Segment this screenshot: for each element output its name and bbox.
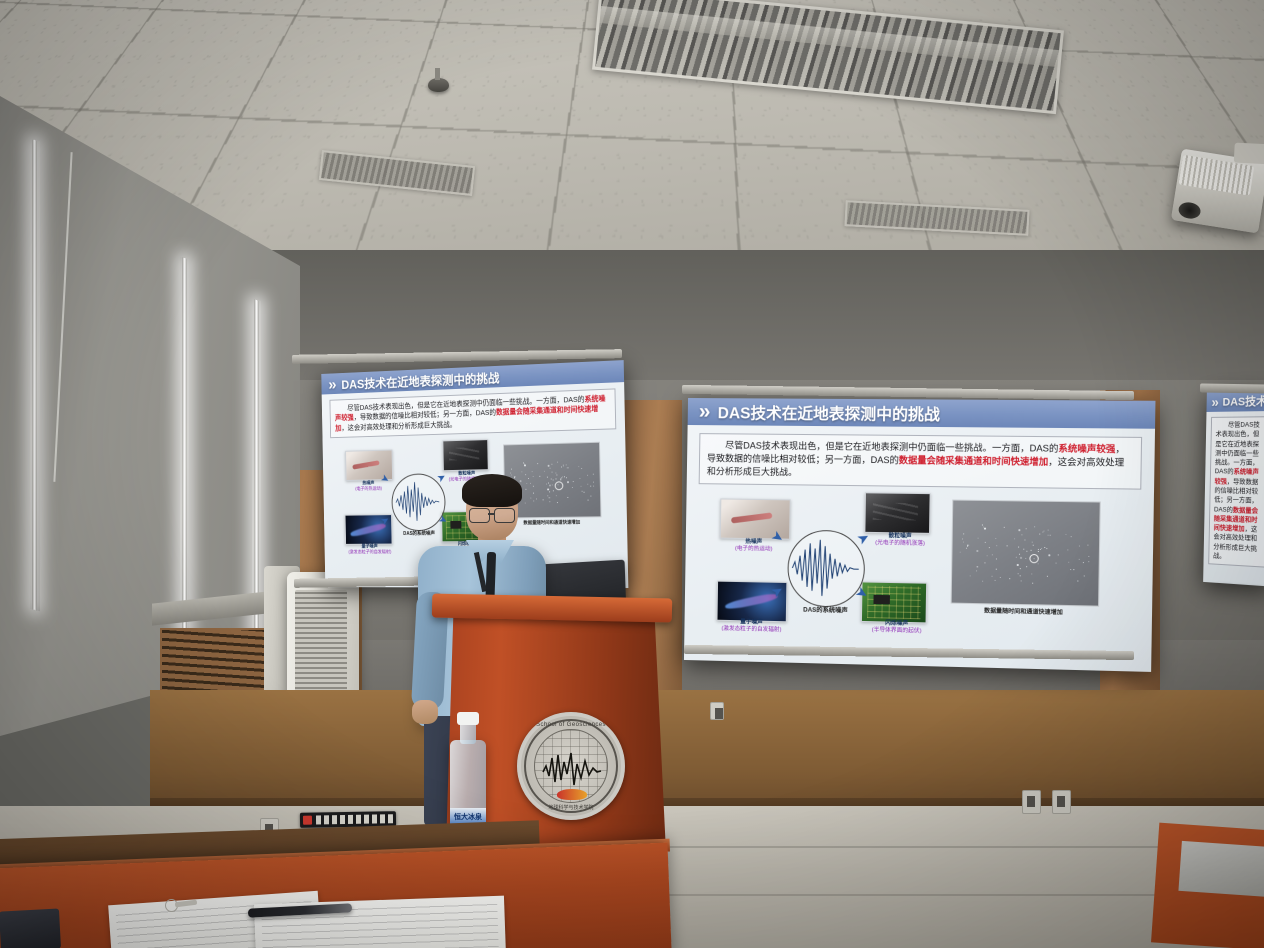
data-point	[566, 464, 567, 465]
data-point	[549, 492, 550, 493]
data-point	[566, 477, 567, 478]
data-point	[968, 545, 969, 546]
highlighted-text: 系统噪声较强	[1058, 443, 1115, 454]
data-point	[553, 490, 554, 491]
data-point	[962, 538, 963, 539]
chevron-double-right-icon: »	[1211, 395, 1218, 409]
data-point	[1047, 576, 1048, 577]
data-point	[1030, 550, 1031, 551]
data-point	[573, 481, 574, 482]
wall-outlet[interactable]	[1022, 790, 1041, 814]
presenter-hand	[412, 700, 438, 724]
data-point	[579, 478, 580, 479]
emblem-text-bottom: 地球科学与技术学院	[517, 804, 625, 811]
data-point	[1027, 551, 1028, 552]
data-point	[1071, 536, 1072, 537]
data-growth-image	[951, 500, 1101, 607]
data-point	[533, 493, 534, 494]
data-point	[967, 544, 968, 545]
data-point	[997, 545, 998, 546]
school-emblem: School of Geosciences 地球科学与技术学院	[517, 712, 625, 820]
data-point	[1073, 569, 1074, 570]
data-point	[536, 499, 537, 500]
data-point	[553, 479, 554, 480]
data-point	[1088, 561, 1089, 562]
data-point	[557, 462, 558, 463]
data-point	[525, 489, 526, 490]
data-point	[551, 478, 552, 479]
data-point	[1088, 556, 1089, 557]
bottle-cap	[457, 712, 479, 725]
data-point	[966, 548, 967, 549]
data-point	[978, 537, 979, 538]
data-point	[546, 484, 547, 485]
glasses-bridge	[488, 513, 494, 515]
caption-quantum-noise: 量子噪声 (激发态粒子的自发辐射)	[700, 618, 803, 634]
data-point	[1007, 545, 1008, 546]
data-point	[1057, 554, 1058, 555]
data-point	[525, 474, 526, 475]
data-point	[1038, 551, 1039, 552]
data-point	[970, 575, 971, 576]
data-point	[555, 478, 556, 479]
data-point	[1033, 544, 1034, 545]
data-point	[1034, 527, 1035, 528]
label-system-noise: DAS的系统噪声	[390, 531, 447, 537]
data-point	[1020, 557, 1022, 559]
data-point	[532, 471, 533, 472]
data-point	[1022, 534, 1023, 535]
data-point	[549, 484, 551, 486]
data-point	[587, 500, 588, 501]
data-point	[1019, 575, 1020, 576]
data-point	[515, 477, 516, 478]
slide-body-text: 尽管DAS技术表现出色，但是它在近地表探测中仍面临一些挑战。一方面，DAS的系统…	[1208, 416, 1264, 568]
data-point	[547, 489, 549, 491]
data-point	[1020, 568, 1021, 569]
data-point	[1083, 576, 1084, 577]
data-point	[560, 479, 561, 480]
caption-flicker-noise: 闪烁噪声 (半导体界面的起伏)	[847, 620, 946, 636]
caption-data-growth: 数据量随时间和通道快速增加	[944, 608, 1103, 619]
data-point	[549, 497, 550, 498]
emblem-text-top: School of Geosciences	[517, 722, 625, 728]
caption-thermal-noise: 热噪声 (电子的热运动)	[708, 539, 801, 555]
data-point	[986, 555, 987, 556]
data-point-highlight	[1029, 554, 1039, 563]
data-point	[556, 473, 557, 474]
data-point	[1041, 548, 1042, 549]
seismic-waveform-icon	[541, 752, 603, 786]
body-text: 尽管DAS技术表现出色，但是它在近地表探测中仍面临一些挑战。一方面，DAS的	[707, 440, 1058, 453]
data-point	[557, 502, 558, 503]
stage-platform	[150, 690, 1264, 810]
data-point	[1055, 563, 1056, 564]
data-point	[591, 496, 592, 497]
data-point	[578, 466, 579, 467]
data-point	[524, 463, 525, 464]
data-point	[533, 476, 534, 477]
data-point	[1048, 530, 1049, 531]
data-point	[593, 485, 594, 486]
data-point	[561, 467, 562, 468]
data-point	[1019, 554, 1020, 555]
label-system-noise: DAS的系统噪声	[783, 606, 868, 616]
data-point	[548, 482, 549, 483]
data-point	[1040, 549, 1041, 550]
data-point	[1014, 538, 1015, 539]
data-point	[511, 475, 512, 476]
data-point	[1088, 545, 1089, 546]
slide-title: DAS技术在近地表探测中的挑战	[718, 401, 941, 425]
data-point	[562, 478, 563, 479]
data-point	[593, 482, 594, 483]
data-point	[982, 581, 983, 582]
data-point	[985, 542, 986, 543]
data-point	[967, 545, 968, 546]
data-point	[584, 492, 585, 493]
data-point	[991, 575, 992, 576]
data-point	[540, 476, 541, 477]
data-point	[982, 525, 983, 526]
data-point	[963, 533, 964, 534]
data-point	[977, 566, 978, 567]
projector-mount	[1234, 143, 1264, 165]
data-point	[581, 468, 582, 469]
data-point	[962, 542, 963, 543]
data-point	[1004, 526, 1005, 527]
data-point	[1048, 554, 1050, 556]
projection-screen-center: » DAS技术在近地表探测中的挑战 尽管DAS技术表现出色，但是它在近地表探测中…	[684, 398, 1156, 672]
wall-outlet[interactable]	[1052, 790, 1071, 814]
caption-quantum-noise: 量子噪声 (激发态粒子的自发辐射)	[335, 544, 405, 555]
data-point	[1083, 562, 1084, 563]
data-point	[996, 558, 997, 559]
slide-body-text: 尽管DAS技术表现出色，但是它在近地表探测中仍面临一些挑战。一方面，DAS的系统…	[699, 433, 1142, 490]
screen-top-bar	[1200, 383, 1264, 393]
data-point	[1068, 561, 1069, 562]
caption-thermal-noise: 热噪声 (电子的热运动)	[337, 480, 400, 492]
data-point	[521, 471, 522, 472]
data-point	[1026, 528, 1027, 529]
data-point	[984, 562, 985, 563]
data-point	[552, 463, 553, 464]
desk-device[interactable]	[0, 908, 61, 948]
data-point	[1038, 563, 1039, 564]
data-point	[1018, 547, 1019, 548]
data-point	[538, 463, 539, 464]
data-point	[525, 502, 526, 503]
data-point	[1023, 549, 1024, 550]
glasses-icon	[494, 508, 515, 523]
data-point	[544, 471, 545, 472]
data-point	[582, 491, 583, 492]
data-point	[1010, 578, 1011, 579]
data-point	[572, 487, 573, 488]
data-point	[549, 501, 550, 502]
desk-paper[interactable]	[254, 896, 506, 948]
data-point	[514, 476, 515, 477]
data-point	[995, 538, 996, 539]
data-point	[567, 467, 568, 468]
chevron-double-right-icon: »	[699, 401, 709, 422]
data-point	[995, 580, 996, 581]
glasses-icon	[469, 508, 490, 523]
data-point	[960, 552, 961, 553]
data-point	[1019, 529, 1021, 531]
projector-lens-icon	[1177, 201, 1201, 220]
data-point	[593, 474, 594, 475]
data-point	[547, 477, 548, 478]
data-point	[1070, 569, 1071, 570]
data-point	[551, 472, 552, 473]
data-point	[1079, 546, 1080, 547]
data-point	[1067, 550, 1068, 551]
data-point	[1031, 541, 1032, 542]
data-point	[587, 484, 588, 485]
data-point	[1078, 581, 1079, 582]
projection-screen-right: » DAS技术在近地表探测中的挑战 尽管DAS技术表现出色，但是它在近地表探测中…	[1203, 390, 1264, 586]
chevron-double-right-icon: »	[328, 376, 335, 392]
data-point	[1050, 535, 1051, 536]
data-point	[1031, 573, 1032, 574]
data-point	[567, 481, 569, 483]
slide-right: » DAS技术在近地表探测中的挑战 尽管DAS技术表现出色，但是它在近地表探测中…	[1203, 390, 1264, 586]
air-conditioner-grille	[295, 590, 347, 702]
data-point	[556, 495, 557, 496]
wall-outlet[interactable]	[710, 702, 724, 720]
window-roller-blind[interactable]	[30, 139, 40, 611]
data-point	[564, 476, 565, 477]
data-point	[984, 527, 986, 529]
data-point	[1066, 534, 1067, 535]
keys[interactable]	[165, 898, 199, 909]
thumbnail-shot-noise	[442, 439, 488, 471]
data-point	[587, 475, 588, 476]
data-point	[1015, 557, 1016, 558]
window-roller-blind[interactable]	[180, 257, 189, 659]
data-point-highlight	[555, 482, 564, 491]
data-point	[530, 498, 531, 499]
data-point	[542, 499, 543, 500]
podium-top-surface	[432, 593, 672, 622]
data-point	[1026, 566, 1027, 567]
data-point	[567, 497, 568, 498]
flame-icon	[557, 789, 587, 800]
data-point	[563, 465, 564, 466]
data-point	[1032, 582, 1033, 583]
data-point	[992, 555, 993, 556]
data-point	[976, 570, 977, 571]
data-point	[995, 569, 996, 570]
data-point	[549, 468, 550, 469]
data-point	[511, 468, 512, 469]
data-point	[1000, 577, 1001, 578]
data-point	[510, 472, 511, 473]
data-point	[1017, 564, 1019, 566]
room-photo-scene: » DAS技术在近地表探测中的挑战 尽管DAS技术表现出色，但是它在近地表探测中…	[0, 0, 1264, 948]
data-point	[976, 550, 978, 552]
data-point	[1044, 547, 1045, 548]
data-point	[1024, 540, 1025, 541]
power-sockets[interactable]	[316, 814, 393, 824]
data-point	[1020, 581, 1021, 582]
data-point	[1018, 573, 1019, 574]
thumbnail-shot-noise	[864, 492, 930, 534]
data-point	[580, 486, 581, 487]
slide-center: » DAS技术在近地表探测中的挑战 尽管DAS技术表现出色，但是它在近地表探测中…	[684, 398, 1156, 672]
data-point	[988, 547, 989, 548]
data-point	[590, 486, 591, 487]
data-point	[527, 483, 528, 484]
data-point	[547, 464, 549, 466]
data-point	[1079, 559, 1080, 560]
power-switch-icon[interactable]	[303, 816, 312, 825]
data-point	[533, 501, 534, 502]
data-point	[520, 480, 522, 482]
smoke-detector-icon	[428, 78, 449, 92]
data-point	[1025, 557, 1026, 558]
highlighted-text: 数据量会随采集通道和时间快速增加	[899, 455, 1049, 467]
data-point	[1039, 534, 1040, 535]
data-point	[533, 486, 534, 487]
ceiling-projector	[1171, 149, 1264, 234]
data-point	[552, 484, 553, 485]
data-point	[566, 467, 567, 468]
data-point	[530, 483, 531, 484]
data-point	[528, 478, 529, 479]
data-point	[557, 475, 558, 476]
bottle-label-text: 恒大冰泉	[450, 812, 486, 822]
data-point	[1047, 548, 1048, 549]
presenter-hair	[462, 474, 522, 507]
